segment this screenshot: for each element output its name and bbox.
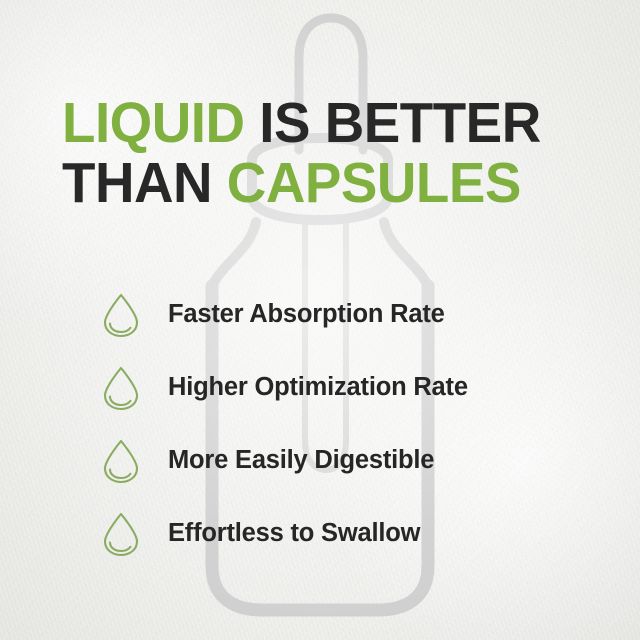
- headline-line-2: THAN CAPSULES: [62, 153, 561, 213]
- headline-word-is-better: IS BETTER: [245, 91, 541, 155]
- headline-word-liquid: LIQUID: [62, 91, 245, 155]
- benefit-label: Higher Optimization Rate: [168, 373, 468, 402]
- benefit-item: Faster Absorption Rate: [100, 278, 570, 351]
- benefit-item: Higher Optimization Rate: [100, 351, 570, 424]
- benefit-item: More Easily Digestible: [100, 424, 570, 497]
- headline-word-than: THAN: [62, 151, 212, 215]
- headline-line-1: LIQUID IS BETTER: [62, 93, 561, 153]
- benefit-label: Faster Absorption Rate: [168, 300, 445, 329]
- droplet-icon: [100, 438, 142, 484]
- headline: LIQUID IS BETTER THAN CAPSULES: [62, 93, 582, 213]
- benefits-list: Faster Absorption Rate Higher Optimizati…: [100, 278, 570, 570]
- droplet-icon: [100, 292, 142, 338]
- headline-word-capsules: CAPSULES: [212, 151, 521, 215]
- droplet-icon: [100, 511, 142, 557]
- droplet-icon: [100, 365, 142, 411]
- liquid-vs-capsules-poster: LIQUID IS BETTER THAN CAPSULES Faster Ab…: [0, 0, 640, 640]
- benefit-label: More Easily Digestible: [168, 446, 434, 475]
- benefit-label: Effortless to Swallow: [168, 519, 420, 548]
- benefit-item: Effortless to Swallow: [100, 497, 570, 570]
